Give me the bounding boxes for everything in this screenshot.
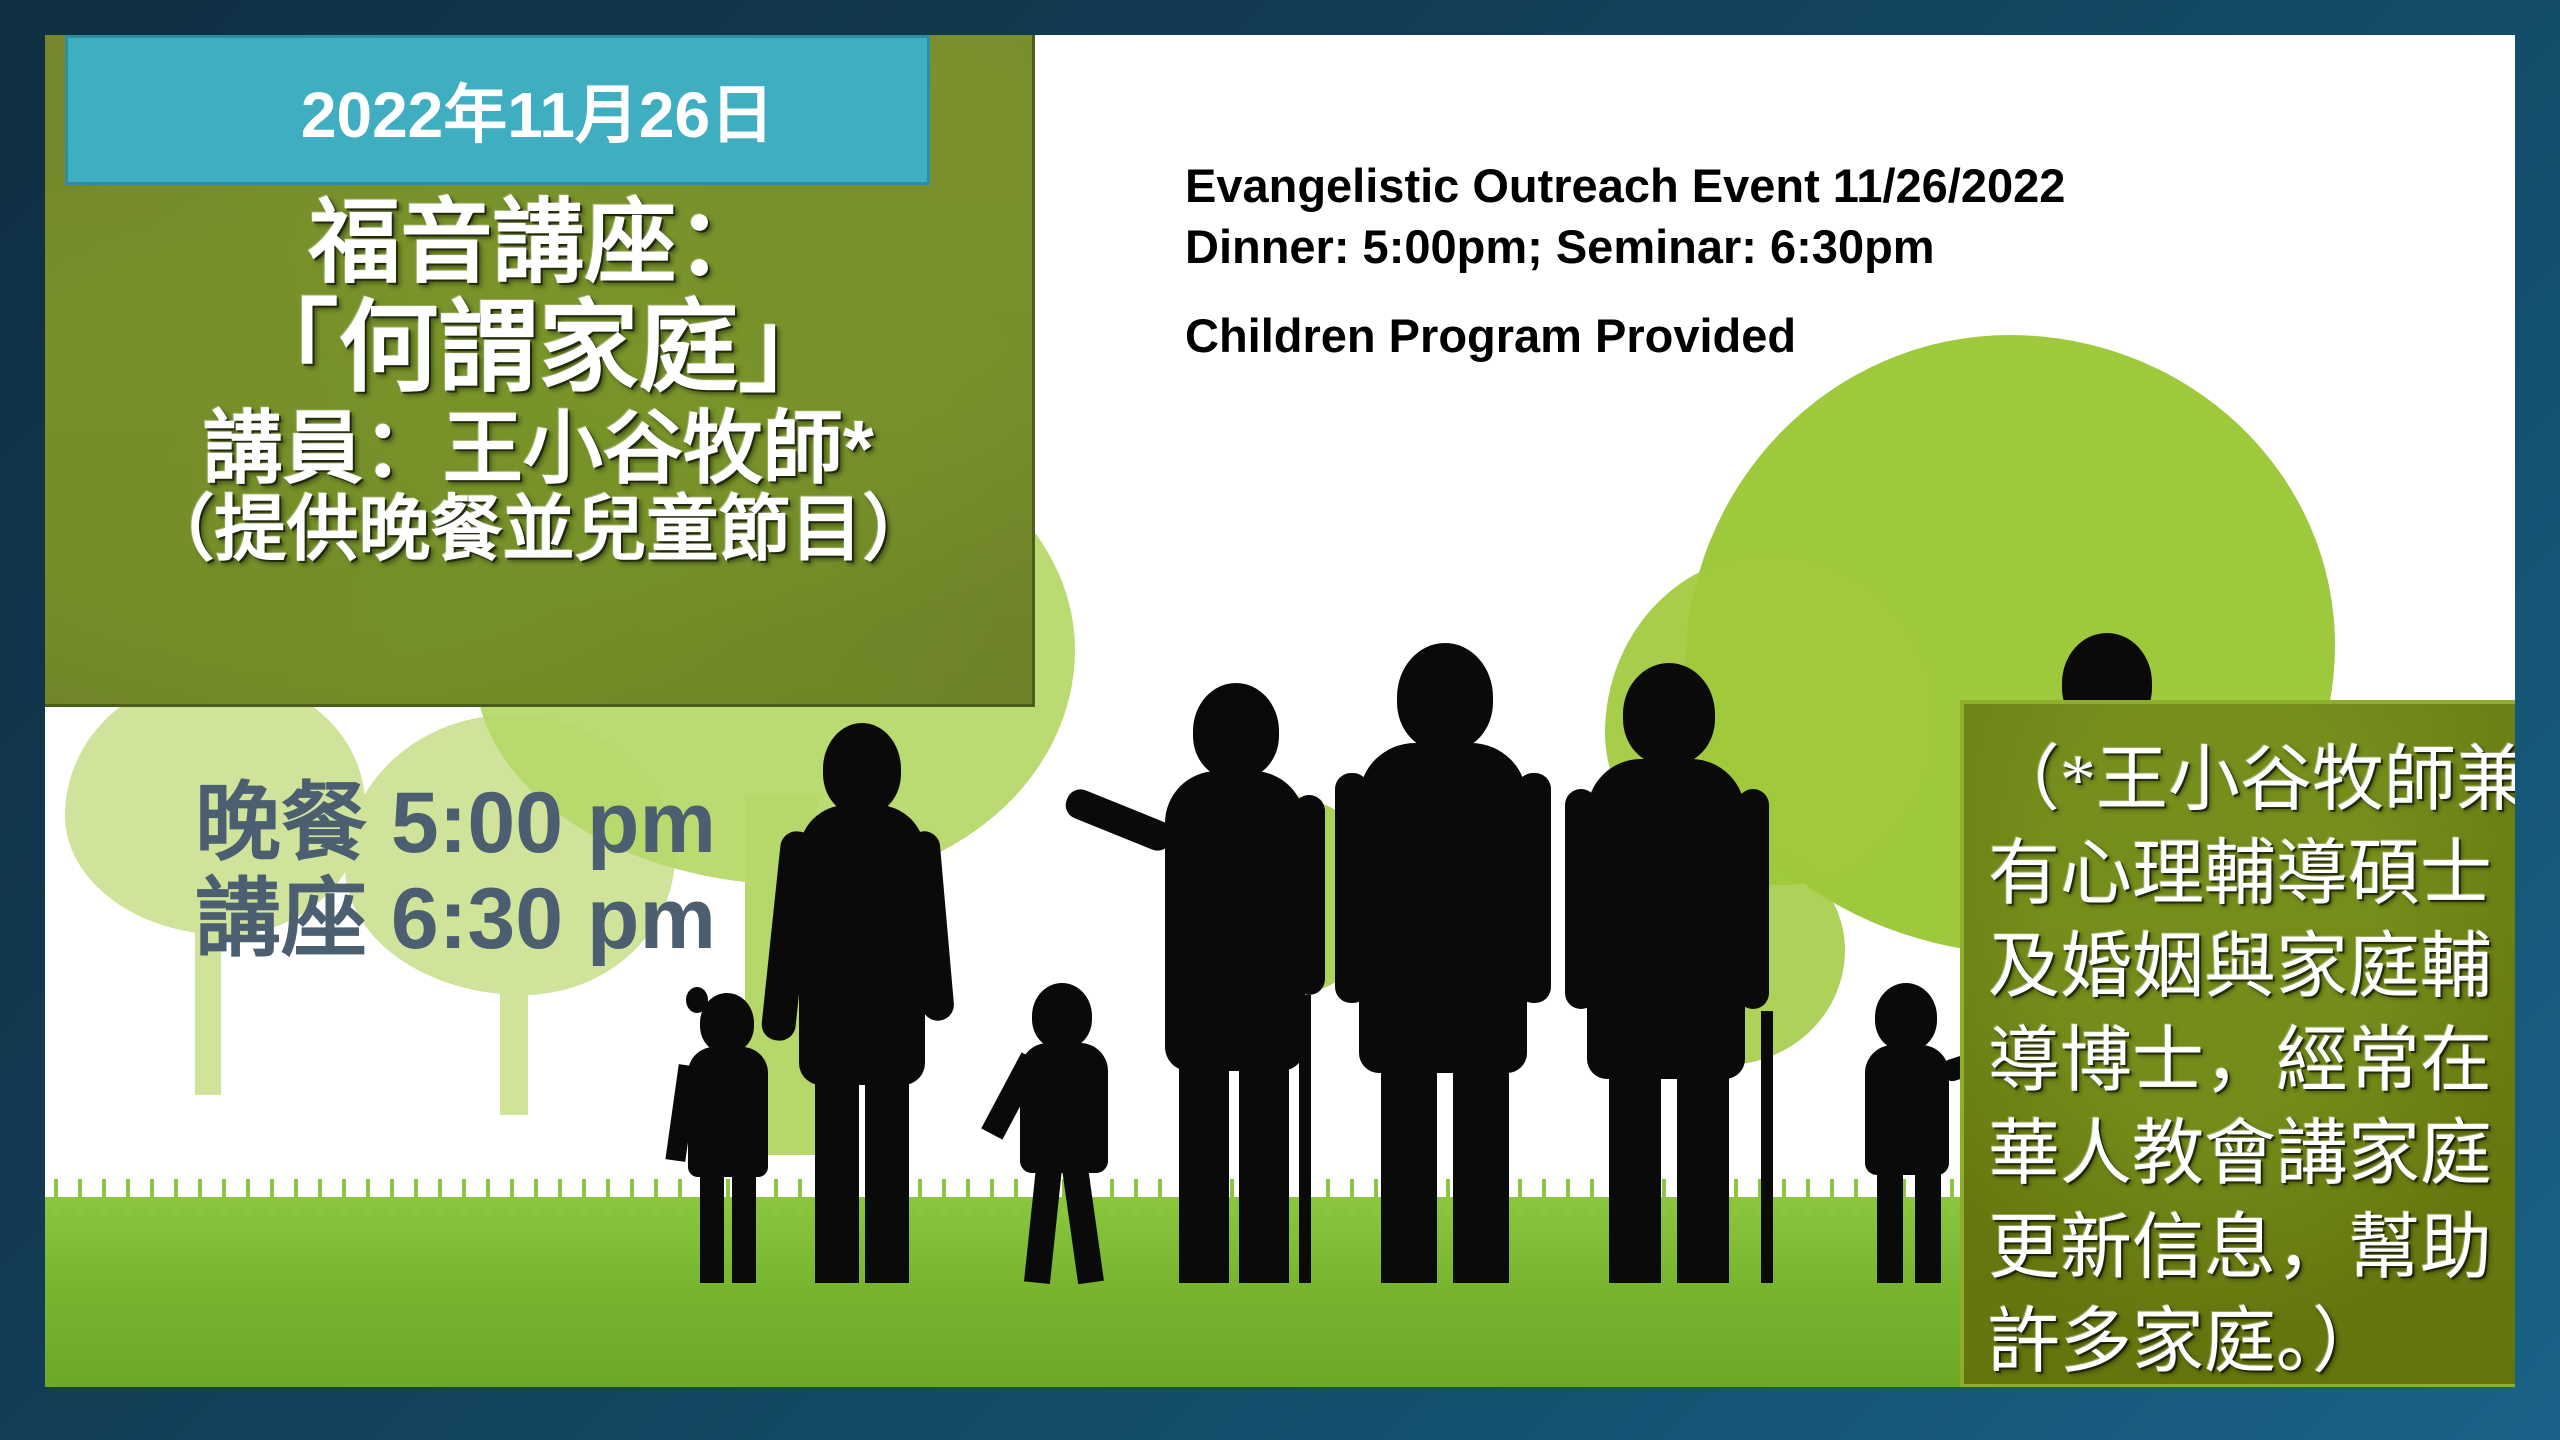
silhouette-elder-with-cane [1335, 643, 1565, 1283]
bio-line-3: 及婚姻與家庭輔 [1988, 921, 2515, 1015]
english-children-program: Children Program Provided [1185, 305, 2065, 366]
silhouette-cane-2 [1761, 1011, 1773, 1283]
english-event-title: Evangelistic Outreach Event 11/26/2022 [1185, 155, 2065, 216]
english-spacer [1185, 277, 2065, 305]
background-shrub-mid-2 [1585, 835, 1845, 1065]
dinner-time-line: 晚餐 5:00 pm [195, 775, 716, 871]
background-tree-bright-right-2 [1605, 555, 1935, 885]
silhouette-child-3 [1845, 983, 1970, 1283]
silhouette-elder-2 [1565, 663, 1780, 1283]
english-text-block: Evangelistic Outreach Event 11/26/2022 D… [1185, 155, 2065, 366]
silhouette-cane-1 [1299, 995, 1311, 1283]
bio-line-1: （*王小谷牧師兼 [1988, 734, 2515, 828]
bio-line-5: 華人教會講家庭 [1988, 1108, 2515, 1202]
silhouette-adult-woman [765, 723, 955, 1283]
silhouette-adult-woman-2 [1135, 683, 1335, 1283]
slide-frame: 福音講座： 「何謂家庭」 講員：王小谷牧師* （提供晚餐並兒童節目） 2022年… [0, 0, 2560, 1440]
english-schedule: Dinner: 5:00pm; Seminar: 6:30pm [1185, 216, 2065, 277]
background-shrub-mid-1 [1175, 795, 1385, 995]
bio-line-7: 許多家庭。） [1988, 1296, 2515, 1387]
silhouette-child-1 [670, 993, 790, 1283]
bio-line-6: 更新信息，幫助 [1988, 1202, 2515, 1296]
speaker-bio-panel: （*王小谷牧師兼 有心理輔導碩士 及婚姻與家庭輔 導博士，經常在 華人教會講家庭… [1960, 700, 2515, 1387]
background-tree-trunk-mid-1 [745, 795, 817, 1155]
event-date-text: 2022年11月26日 [301, 64, 774, 156]
title-line-1: 福音講座： [45, 195, 1032, 292]
bio-line-4: 導博士，經常在 [1988, 1015, 2515, 1109]
title-line-4-note: （提供晚餐並兒童節目） [45, 493, 1032, 569]
title-line-3-speaker: 講員：王小谷牧師* [45, 407, 1032, 491]
seminar-time-line: 講座 6:30 pm [195, 871, 716, 967]
time-block: 晚餐 5:00 pm 講座 6:30 pm [195, 775, 716, 968]
date-banner: 2022年11月26日 [65, 35, 930, 185]
title-line-2: 「何謂家庭」 [45, 296, 1032, 401]
bio-line-2: 有心理輔導碩士 [1988, 828, 2515, 922]
silhouette-child-2 [1000, 983, 1130, 1283]
flyer-canvas: 福音講座： 「何謂家庭」 講員：王小谷牧師* （提供晚餐並兒童節目） 2022年… [45, 35, 2515, 1387]
